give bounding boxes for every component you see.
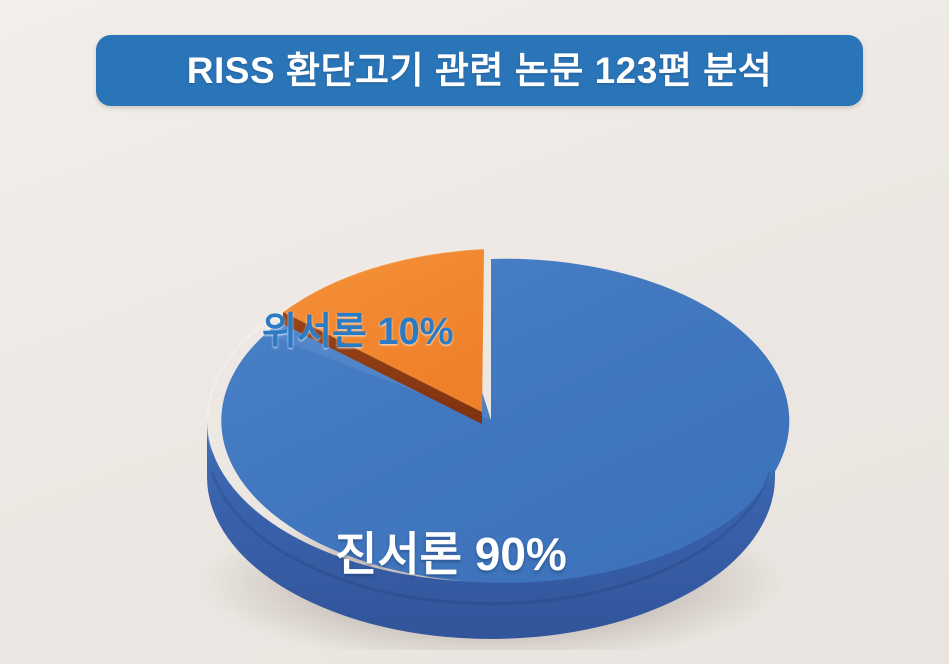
pie-chart: 위서론 10% 진서론 90% [0,120,949,664]
pie-label-weseoron: 위서론 10% [262,313,454,351]
slide-canvas: RISS 환단고기 관련 논문 123편 분석 [0,0,949,664]
title-banner: RISS 환단고기 관련 논문 123편 분석 [96,35,863,106]
page-title: RISS 환단고기 관련 논문 123편 분석 [187,52,772,89]
pie-label-jinseoron: 진서론 90% [335,531,567,577]
